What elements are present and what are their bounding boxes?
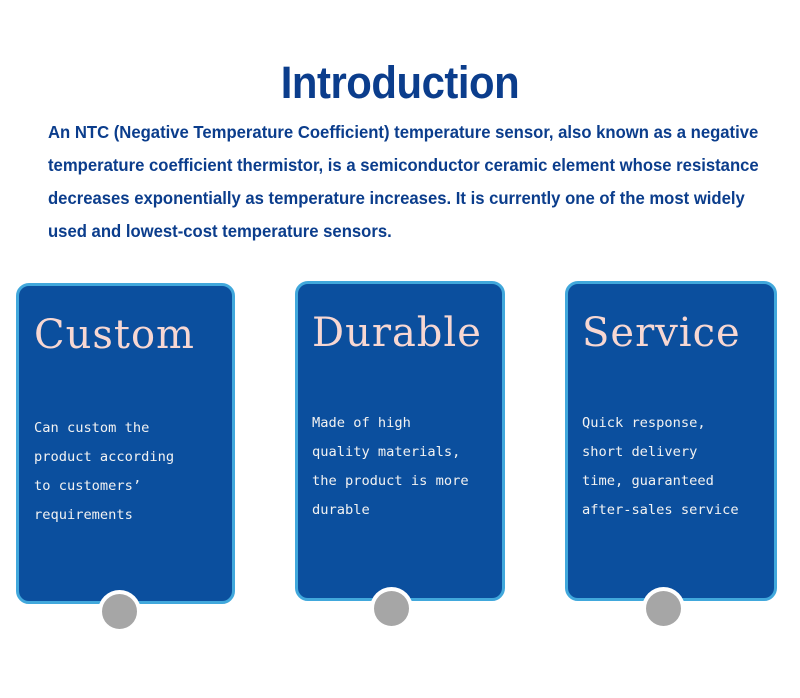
feature-card-service[interactable]: Service Quick response, short delivery t… — [565, 281, 777, 601]
feature-card-heading: Service — [582, 310, 741, 356]
feature-card-body: Can custom the product according to cust… — [34, 414, 228, 530]
feature-card-durable[interactable]: Durable Made of high quality materials, … — [295, 281, 505, 601]
feature-card-heading: Durable — [312, 310, 482, 356]
card-knob-circle-icon — [646, 591, 681, 626]
feature-card-heading: Custom — [34, 312, 195, 358]
feature-card-body: Made of high quality materials, the prod… — [312, 409, 500, 525]
feature-card-custom[interactable]: Custom Can custom the product according … — [16, 283, 235, 604]
feature-cards-row: Custom Can custom the product according … — [0, 0, 800, 698]
card-knob-circle-icon — [102, 594, 137, 629]
card-knob-circle-icon — [374, 591, 409, 626]
feature-card-body: Quick response, short delivery time, gua… — [582, 409, 772, 525]
